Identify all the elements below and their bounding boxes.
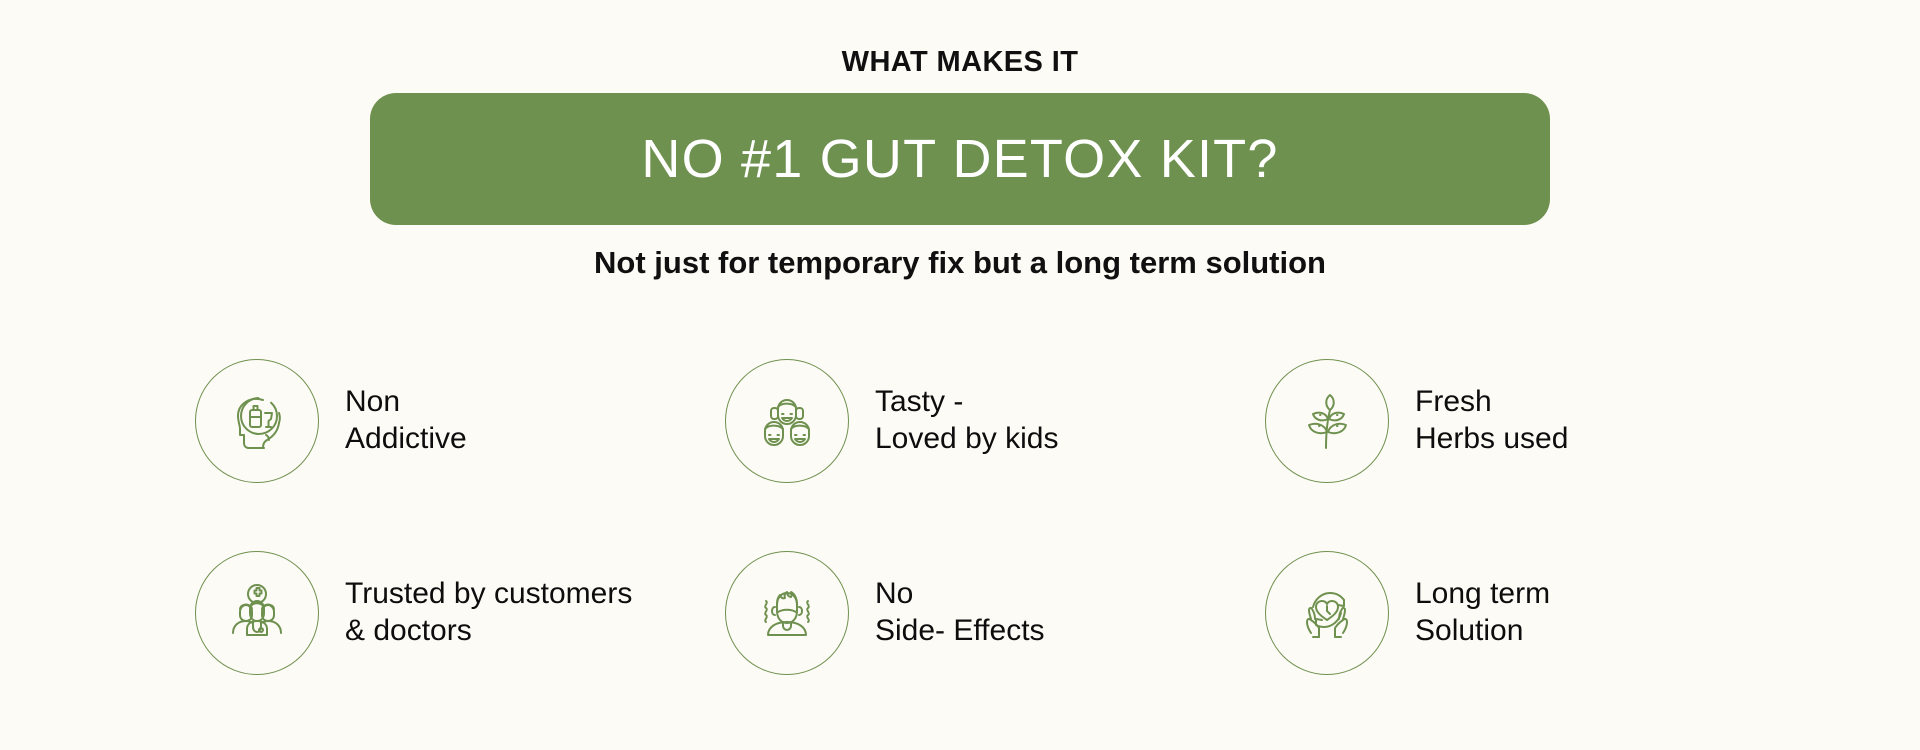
header-section: WHAT MAKES IT NO #1 GUT DETOX KIT? Not j… (0, 0, 1920, 278)
feature-item-trusted: Trusted by customers & doctors (195, 517, 725, 709)
banner-title: NO #1 GUT DETOX KIT? (641, 132, 1278, 186)
feature-label: Tasty - Loved by kids (875, 384, 1058, 457)
eyebrow-text: WHAT MAKES IT (0, 48, 1920, 77)
person-side-effects-icon (725, 551, 849, 675)
medical-team-icon (195, 551, 319, 675)
feature-label: No Side- Effects (875, 576, 1045, 649)
herb-sprig-icon (1265, 359, 1389, 483)
feature-item-no-side-effects: No Side- Effects (725, 517, 1265, 709)
feature-label: Long term Solution (1415, 576, 1550, 649)
headline-banner: NO #1 GUT DETOX KIT? (370, 93, 1550, 225)
feature-item-long-term-solution: Long term Solution (1265, 517, 1755, 709)
three-kids-faces-icon (725, 359, 849, 483)
feature-label: Non Addictive (345, 384, 467, 457)
head-bottle-glass-icon (195, 359, 319, 483)
feature-label: Trusted by customers & doctors (345, 576, 632, 649)
hands-heart-clock-icon (1265, 551, 1389, 675)
feature-item-tasty-loved-by-kids: Tasty - Loved by kids (725, 325, 1265, 517)
feature-label: Fresh Herbs used (1415, 384, 1568, 457)
promo-banner-page: WHAT MAKES IT NO #1 GUT DETOX KIT? Not j… (0, 0, 1920, 750)
subtitle-text: Not just for temporary fix but a long te… (0, 247, 1920, 278)
feature-item-non-addictive: Non Addictive (195, 325, 725, 517)
feature-grid: Non Addictive (195, 325, 1755, 709)
feature-item-fresh-herbs: Fresh Herbs used (1265, 325, 1755, 517)
